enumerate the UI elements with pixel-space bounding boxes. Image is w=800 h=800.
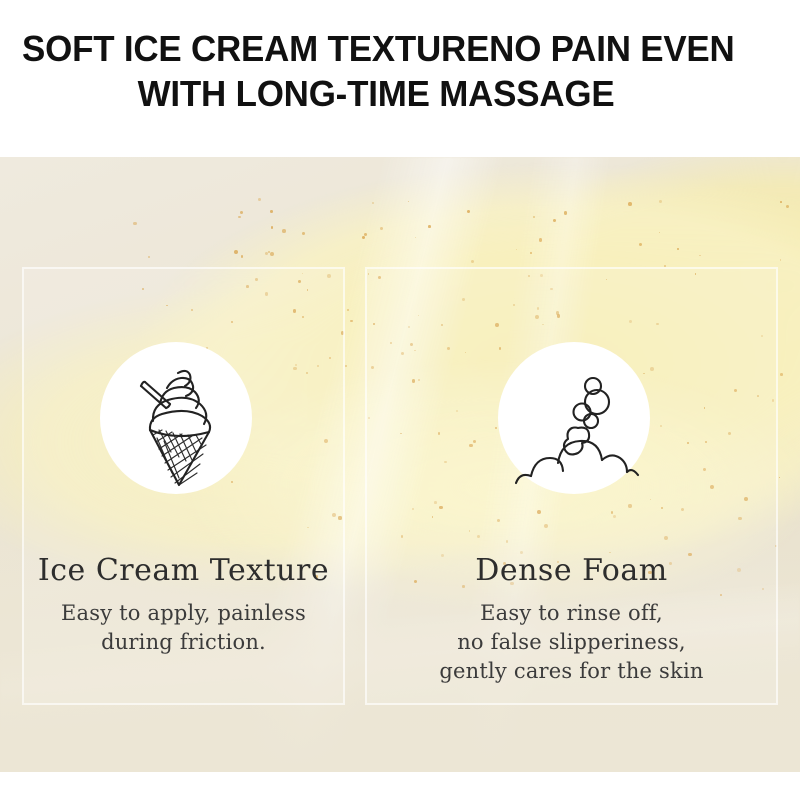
exfoliant-speck: [628, 202, 632, 206]
exfoliant-speck: [282, 229, 286, 233]
header-banner: SOFT ICE CREAM TEXTURENO PAIN EVEN WITH …: [0, 0, 800, 157]
exfoliant-speck: [471, 260, 474, 263]
headline-line-2: WITH LONG-TIME MASSAGE: [22, 71, 759, 116]
feature-card-ice-cream-texture[interactable]: Ice Cream Texture Easy to apply, painles…: [22, 267, 345, 705]
card-description: Easy to rinse off, no false slipperiness…: [373, 599, 770, 686]
page-title: SOFT ICE CREAM TEXTURENO PAIN EVEN WITH …: [22, 26, 759, 116]
exfoliant-speck: [362, 236, 365, 239]
card-description-line: Easy to apply, painless: [30, 599, 337, 628]
footer-strip: [0, 772, 800, 800]
card-description-line: gently cares for the skin: [373, 657, 770, 686]
product-feature-banner: SOFT ICE CREAM TEXTURENO PAIN EVEN WITH …: [0, 0, 800, 800]
exfoliant-speck: [265, 252, 268, 255]
card-description-line: Easy to rinse off,: [373, 599, 770, 628]
feature-card-dense-foam[interactable]: Dense Foam Easy to rinse off, no false s…: [365, 267, 778, 705]
ice-cream-cone-icon: [100, 342, 252, 494]
foam-bubbles-icon: [498, 342, 650, 494]
exfoliant-speck: [428, 225, 431, 228]
exfoliant-speck: [659, 232, 660, 233]
card-description-line: during friction.: [30, 628, 337, 657]
exfoliant-speck: [241, 255, 244, 258]
card-title: Ice Cream Texture: [24, 554, 343, 588]
exfoliant-speck: [380, 227, 383, 230]
exfoliant-speck: [364, 233, 367, 236]
exfoliant-speck: [780, 373, 783, 376]
exfoliant-speck: [659, 200, 662, 203]
exfoliant-speck: [347, 309, 349, 311]
exfoliant-speck: [270, 252, 274, 256]
headline-line-1: SOFT ICE CREAM TEXTURENO PAIN EVEN: [22, 28, 735, 69]
exfoliant-speck: [780, 201, 782, 203]
card-title: Dense Foam: [367, 554, 776, 588]
exfoliant-speck: [238, 216, 240, 218]
exfoliant-speck: [270, 210, 273, 213]
card-description-line: no false slipperiness,: [373, 628, 770, 657]
card-description: Easy to apply, painless during friction.: [30, 599, 337, 657]
exfoliant-speck: [148, 256, 150, 258]
